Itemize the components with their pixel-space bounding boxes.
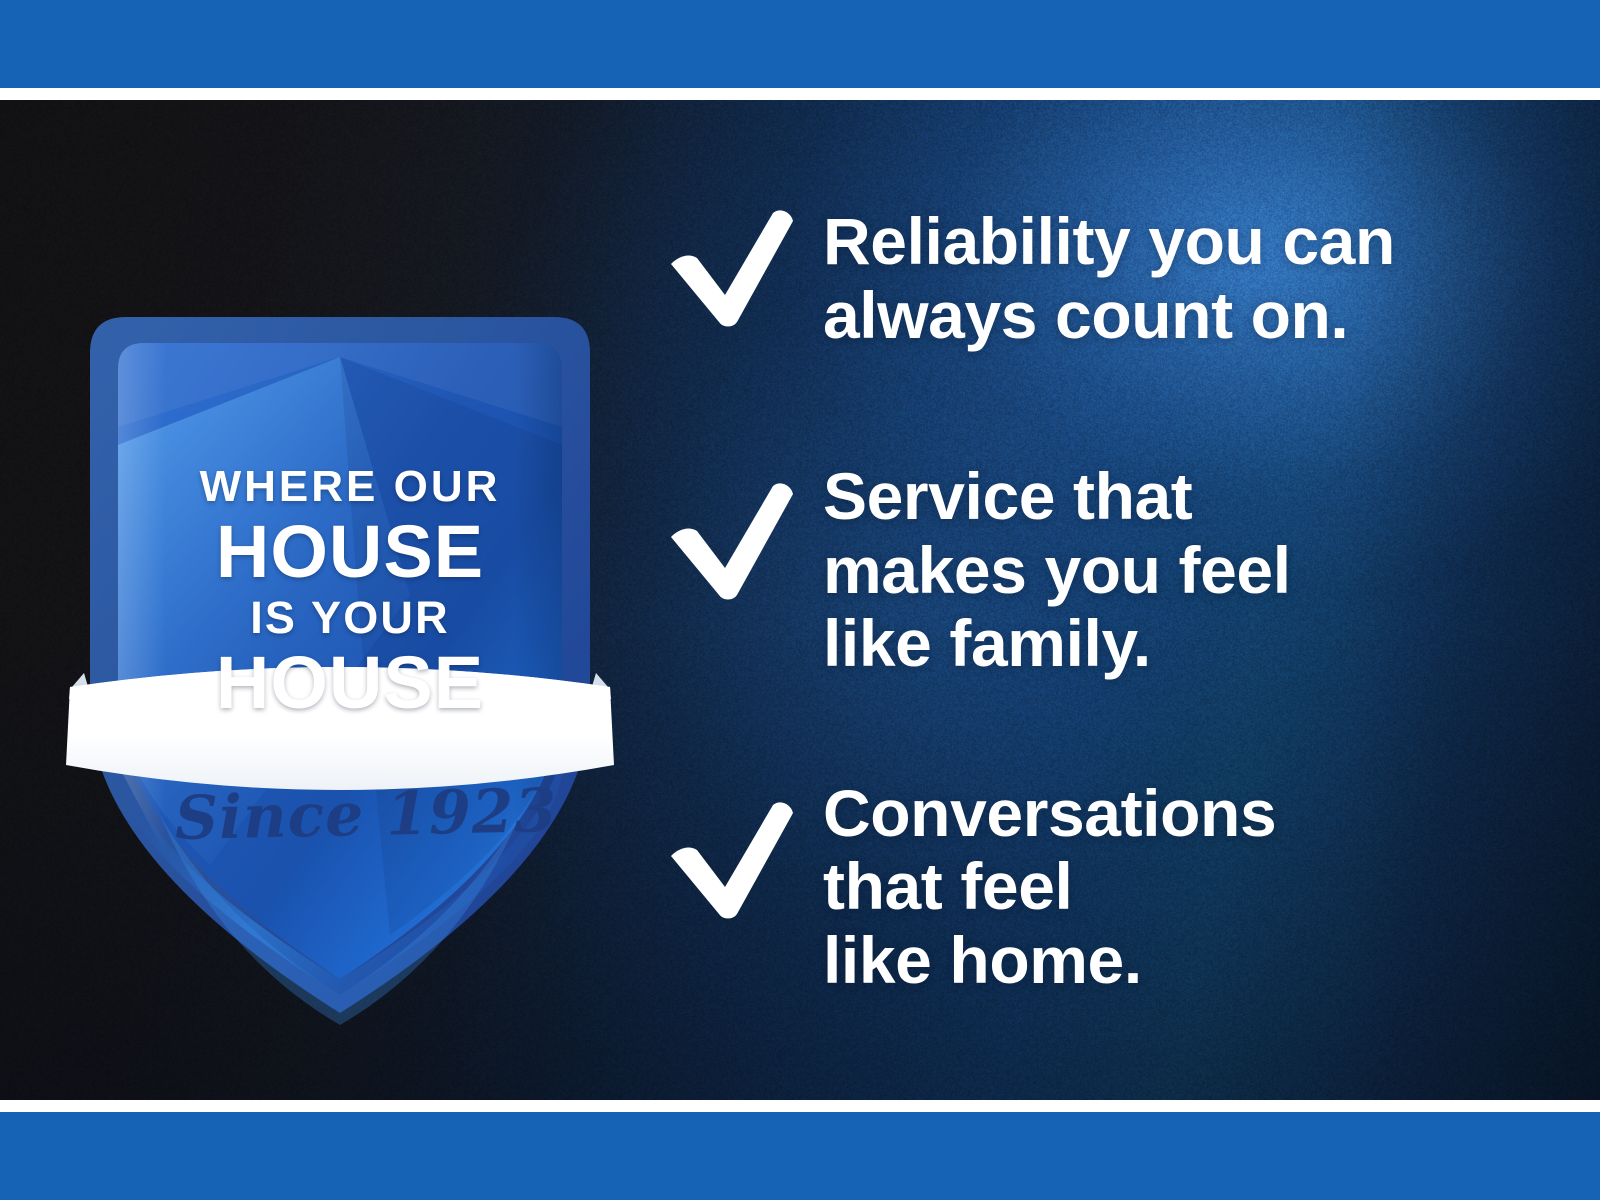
checkmark-icon xyxy=(665,801,795,919)
checkmark-icon xyxy=(665,482,795,600)
list-item: Service that makes you feel like family. xyxy=(665,460,1545,681)
bottom-brand-band xyxy=(0,1112,1600,1200)
promotional-poster: WHERE OUR HOUSE IS YOUR HOUSE Since 1923… xyxy=(0,0,1600,1200)
brand-shield-badge: WHERE OUR HOUSE IS YOUR HOUSE Since 1923 xyxy=(60,295,620,1035)
list-item-label: Reliability you can always count on. xyxy=(823,205,1545,352)
list-item-label: Service that makes you feel like family. xyxy=(823,460,1545,681)
benefits-list: Reliability you can always count on. Ser… xyxy=(665,205,1545,998)
poster-stage: WHERE OUR HOUSE IS YOUR HOUSE Since 1923… xyxy=(0,100,1600,1100)
checkmark-icon xyxy=(665,209,795,327)
list-item-label: Conversations that feel like home. xyxy=(823,777,1545,998)
list-item: Conversations that feel like home. xyxy=(665,777,1545,998)
list-item: Reliability you can always count on. xyxy=(665,205,1545,352)
top-brand-band xyxy=(0,0,1600,88)
